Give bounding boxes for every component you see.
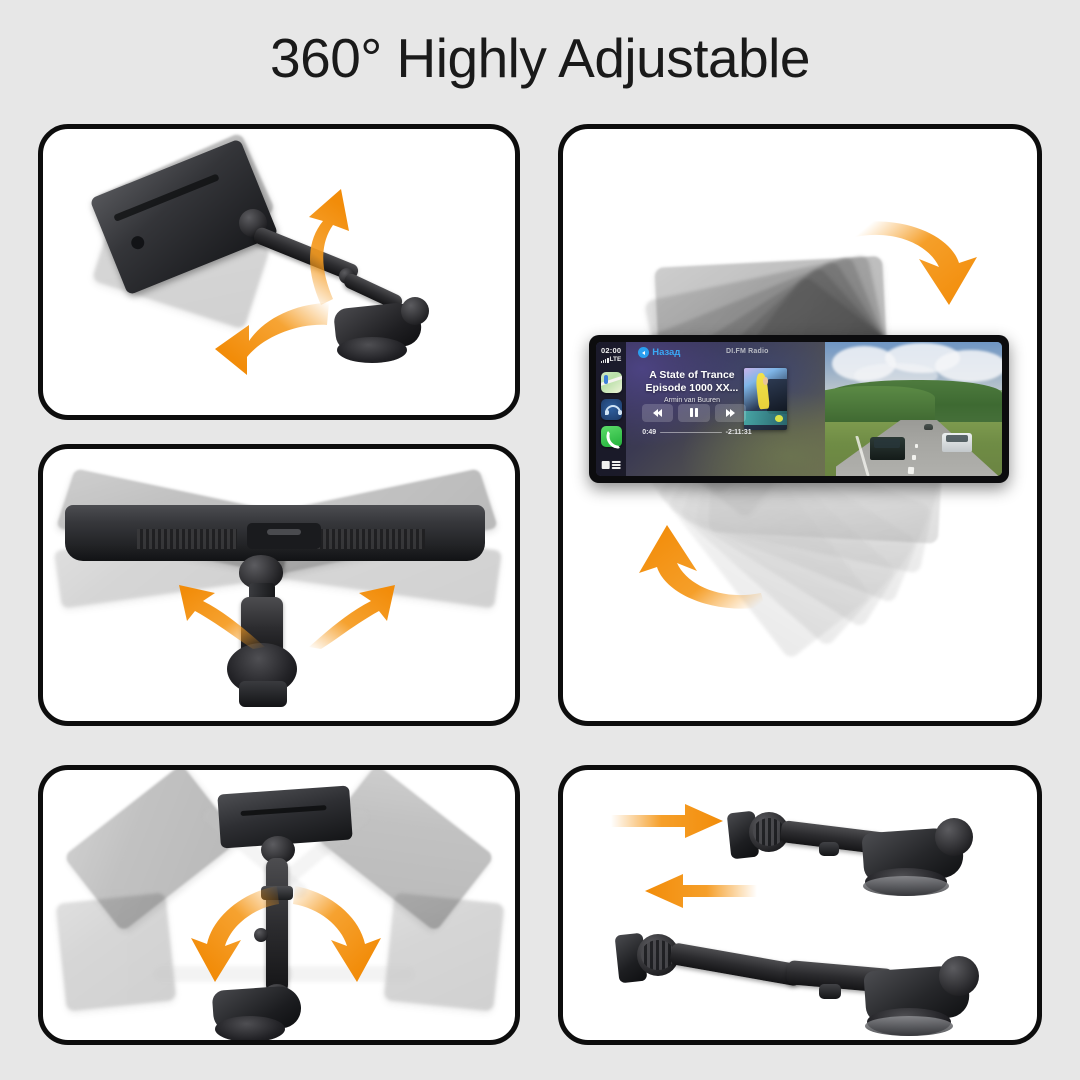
- lane-marking: [915, 444, 919, 448]
- audio-app-icon[interactable]: [601, 399, 622, 420]
- album-artwork: [744, 368, 787, 430]
- right-arrow: [611, 804, 723, 838]
- back-arrow-icon: [638, 347, 649, 358]
- lane-marking: [912, 455, 917, 460]
- mount-retracted: [723, 792, 983, 902]
- back-button[interactable]: Назад: [638, 347, 680, 358]
- clockwise-curved-arrow: [851, 215, 981, 307]
- display-underside: [65, 505, 485, 561]
- now-playing-list-icon[interactable]: [602, 461, 621, 469]
- now-playing-meta: A State of Trance Episode 1000 XX... Arm…: [644, 369, 740, 404]
- ghost-assembly-lower-left: [56, 893, 177, 1012]
- pause-icon: [689, 404, 699, 422]
- media-controls: [642, 404, 746, 422]
- carplay-content: Назад DI.FM Radio A State of Trance Epis…: [626, 342, 825, 476]
- track-title-line1: A State of Trance: [644, 369, 740, 382]
- base-release-knob: [401, 297, 429, 325]
- arm-release-tab: [819, 984, 841, 999]
- network-label: LTE: [610, 356, 622, 363]
- status-bar: 02:00 LTE: [601, 347, 621, 363]
- horizontal-swivel-panel: [38, 444, 520, 726]
- track-title-line2: Episode 1000 XX...: [644, 382, 740, 395]
- counter-clockwise-curved-arrow: [635, 521, 767, 615]
- down-left-curved-arrow: [213, 297, 333, 387]
- mount-extended: [611, 910, 989, 1028]
- station-label: DI.FM Radio: [726, 348, 769, 355]
- carplay-display[interactable]: 02:00 LTE: [589, 335, 1009, 483]
- signal-bars-icon: [601, 357, 609, 363]
- dashcam-video-feed[interactable]: [825, 342, 1002, 476]
- swivel-base-foot: [239, 681, 287, 707]
- elapsed-time: 0:49: [642, 429, 656, 436]
- lane-marking: [908, 466, 915, 473]
- phone-app-icon[interactable]: [601, 426, 622, 447]
- fast-forward-button[interactable]: [715, 404, 746, 422]
- remaining-time: -2:11:31: [726, 429, 752, 436]
- progress-track[interactable]: [660, 432, 721, 433]
- top-port-row: [240, 805, 326, 816]
- base-lock-knob: [935, 818, 973, 856]
- ghost-assembly-lower-right: [384, 893, 505, 1012]
- vent-left: [137, 529, 237, 549]
- screen-rotation-panel: 02:00 LTE: [558, 124, 1042, 726]
- arm-release-tab: [819, 842, 839, 856]
- suction-cup: [337, 337, 407, 363]
- telescoping-arm-extended: [669, 942, 803, 987]
- down-right-curved-arrow: [291, 882, 387, 984]
- car-ahead-dark: [870, 437, 905, 460]
- pause-button[interactable]: [678, 404, 709, 422]
- up-right-arrow: [305, 583, 399, 649]
- vent-right: [317, 529, 425, 549]
- back-button-label: Назад: [652, 347, 680, 358]
- carplay-media-pane: 02:00 LTE: [596, 342, 825, 476]
- playback-progress[interactable]: 0:49 -2:11:31: [642, 429, 752, 436]
- suction-rim: [863, 876, 949, 896]
- pivot-suction-cup: [215, 1016, 285, 1042]
- vertical-tilt-panel: [38, 124, 520, 420]
- car-ahead-light: [942, 433, 972, 452]
- status-time: 02:00: [601, 347, 621, 356]
- rewind-button[interactable]: [642, 404, 673, 422]
- maps-app-icon[interactable]: [601, 372, 622, 393]
- suction-rim: [865, 1016, 953, 1036]
- cloud: [935, 350, 1002, 382]
- mount-slot: [267, 529, 301, 535]
- page-title: 360° Highly Adjustable: [0, 26, 1080, 90]
- status-network: LTE: [601, 356, 621, 363]
- arm-pivot-panel: [38, 765, 520, 1045]
- left-arrow: [645, 874, 757, 908]
- up-right-curved-arrow: [279, 187, 379, 307]
- arm-extension-panel: [558, 765, 1042, 1045]
- car-distant: [924, 424, 933, 431]
- up-left-arrow: [175, 583, 269, 649]
- down-left-curved-arrow: [185, 882, 281, 984]
- mount-plate: [247, 523, 321, 549]
- carplay-sidebar: 02:00 LTE: [596, 342, 626, 476]
- carplay-app-list: [601, 372, 622, 447]
- base-lock-knob: [939, 956, 979, 996]
